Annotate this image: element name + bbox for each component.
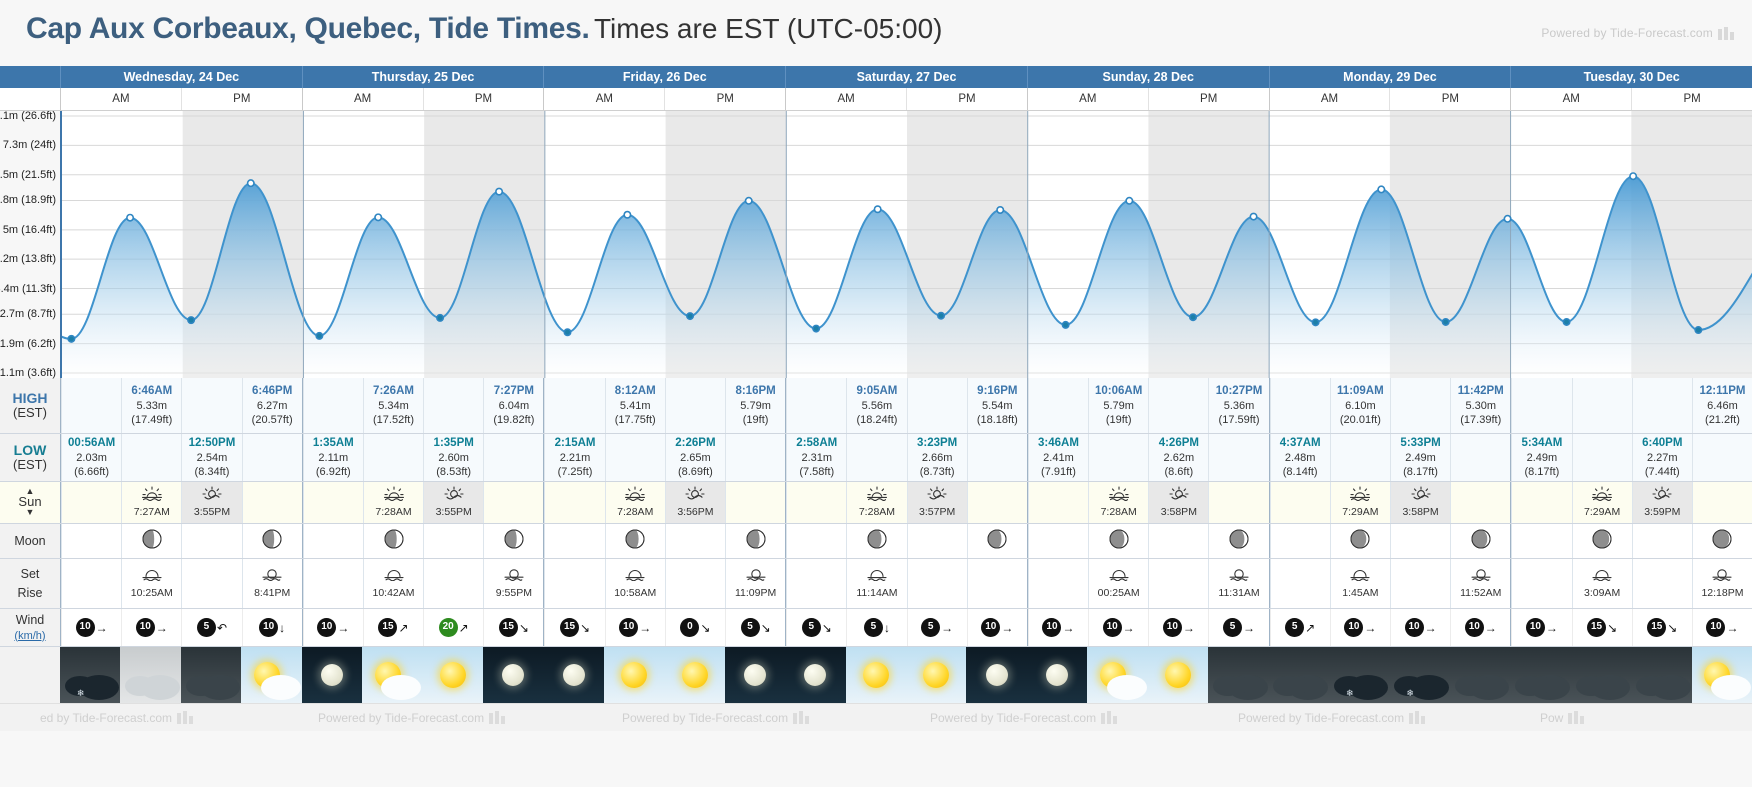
moon-icon (1046, 664, 1068, 686)
page-title: Cap Aux Corbeaux, Quebec, Tide Times. (26, 12, 590, 45)
low-cell-2-0: 2:15AM2.21m(7.25ft) (544, 434, 604, 481)
high-cell-4-3: 10:27PM5.36m(17.59ft) (1208, 378, 1268, 433)
sunrise-time-3: 7:28AM (859, 506, 895, 519)
tide-chart-page: Cap Aux Corbeaux, Quebec, Tide Times. Ti… (0, 0, 1752, 787)
wind-direction-icon: → (156, 622, 168, 634)
wind-label: Wind (km/h) (0, 609, 60, 646)
high-ft-5-3: (17.39ft) (1460, 413, 1501, 427)
weather-day-6 (1510, 647, 1752, 703)
wind-speed-badge: 10 (1526, 618, 1545, 637)
wind-speed-badge: 10 (317, 618, 336, 637)
wind-cell-5-0: 5↗ (1270, 609, 1330, 646)
low-time-3-0: 2:58AM (796, 436, 837, 451)
low-tide-label-text: LOW (14, 442, 47, 458)
high-tide-label-text: HIGH (13, 390, 48, 406)
ampm-header-row: AMPMAMPMAMPMAMPMAMPMAMPMAMPM (0, 88, 1752, 111)
y-tick-8: 1.9m (6.2ft) (0, 338, 56, 350)
moonset-time-1: 10:42AM (372, 587, 414, 600)
weather-day-3 (785, 647, 1027, 703)
moon-day-2 (543, 524, 785, 558)
moon-cell-5-2 (1390, 524, 1450, 558)
high-time-0-1: 6:46AM (131, 384, 172, 399)
low-time-2-2: 2:26PM (675, 436, 715, 451)
weather-strip-row: ❄❄❄ (0, 647, 1752, 703)
weather-icon-night-cloudy (1450, 647, 1510, 703)
sunset-icon (1409, 486, 1433, 505)
sun-icon (440, 662, 466, 688)
wind-cell-5-3: 10→ (1450, 609, 1510, 646)
sunset-time-3: 3:57PM (919, 506, 955, 519)
sun-day-3: 7:28AM3:57PM (785, 482, 1027, 523)
low-ft-4-2: (8.6ft) (1164, 465, 1193, 479)
wind-day-5: 5↗10→10→10→ (1269, 609, 1511, 646)
wind-speed-badge: 5 (864, 618, 883, 637)
tide-chart: 8.1m (26.6ft)7.3m (24ft)6.5m (21.5ft)5.8… (0, 111, 1752, 378)
weather-cell-3-1 (846, 647, 906, 703)
low-cell-3-2: 3:23PM2.66m(8.73ft) (907, 434, 967, 481)
tide-point-15 (997, 207, 1003, 213)
wind-cell-6-0: 10→ (1511, 609, 1571, 646)
wind-direction-icon: ↗ (459, 622, 469, 634)
wind-cell-2-2: 0↘ (665, 609, 725, 646)
moon-phase-icon (1712, 529, 1732, 553)
high-m-1-3: 6.04m (499, 399, 530, 413)
weather-cell-0-1 (120, 647, 180, 703)
sun-cell-2-0 (544, 482, 604, 523)
weather-icon-day-partly-cloudy (1087, 647, 1147, 703)
sun-arrows-icon: ▲ Sun ▼ (18, 489, 41, 515)
weather-cell-4-3 (1208, 647, 1268, 703)
sun-icon (1165, 662, 1191, 688)
high-time-5-1: 11:09AM (1337, 384, 1384, 399)
low-tide-tz: (EST) (13, 458, 47, 473)
footer-watermark-0: ed by Tide-Forecast.com (40, 711, 193, 725)
low-m-4-0: 2.41m (1043, 451, 1074, 465)
footer-watermark-text-3: Powered by Tide-Forecast.com (930, 711, 1096, 725)
high-cell-6-0 (1511, 378, 1571, 433)
high-m-4-3: 5.36m (1224, 399, 1255, 413)
moon-icon (804, 664, 826, 686)
low-cell-4-3 (1208, 434, 1268, 481)
sun-row: ▲ Sun ▼ 7:27AM3:55PM7:28AM3:55PM7:28AM3:… (0, 482, 1752, 524)
footer-watermark-text-0: ed by Tide-Forecast.com (40, 711, 172, 725)
low-cell-4-0: 3:46AM2.41m(7.91ft) (1028, 434, 1088, 481)
wind-direction-icon: ↗ (398, 622, 408, 634)
weather-icon-day-sunny (846, 647, 906, 703)
high-cell-5-3: 11:42PM5.30m(17.39ft) (1450, 378, 1510, 433)
ampm-day-3: AMPM (785, 88, 1027, 110)
low-time-5-0: 4:37AM (1280, 436, 1321, 451)
cloud-icon (1662, 676, 1688, 694)
moon-set-icon (1108, 567, 1130, 585)
moonrise-time-2: 11:09PM (735, 587, 776, 600)
wind-direction-icon: ↘ (580, 622, 590, 634)
cloud-icon (272, 676, 298, 694)
high-cell-2-1: 8:12AM5.41m(17.75ft) (605, 378, 665, 433)
moon-phase-icon (1109, 529, 1129, 553)
sunset-time-2: 3:56PM (677, 506, 713, 519)
sun-cell-1-3 (483, 482, 543, 523)
high-ft-0-1: (17.49ft) (131, 413, 172, 427)
moon-rise-icon (261, 567, 283, 585)
weather-cell-6-0 (1510, 647, 1570, 703)
tide-point-19 (1250, 213, 1256, 219)
wind-cell-2-3: 5↘ (725, 609, 785, 646)
wind-direction-icon: → (1425, 622, 1437, 634)
setrise-cell-3-1: 11:14AM (846, 559, 906, 608)
moon-phase-row: Moon (0, 524, 1752, 559)
moon-rise-icon (1228, 567, 1250, 585)
sun-cell-5-3 (1450, 482, 1510, 523)
moon-set-icon (1349, 567, 1371, 585)
sunset-time-1: 3:55PM (436, 506, 472, 519)
weather-cell-5-1: ❄ (1329, 647, 1389, 703)
low-tide-label: LOW (EST) (0, 434, 60, 481)
wind-direction-icon: → (1062, 622, 1074, 634)
wind-direction-icon: → (941, 622, 953, 634)
high-time-3-1: 9:05AM (856, 384, 897, 399)
wind-label-text: Wind (16, 612, 44, 629)
wind-speed-badge: 15 (1587, 618, 1606, 637)
setrise-cell-0-3: 8:41PM (242, 559, 302, 608)
high-ft-0-3: (20.57ft) (252, 413, 293, 427)
sun-cell-1-2: 3:55PM (423, 482, 483, 523)
watermark-bars-icon (1101, 711, 1117, 724)
high-cell-5-2 (1390, 378, 1450, 433)
high-cell-6-1 (1572, 378, 1632, 433)
am-header-5: AM (1270, 88, 1390, 110)
sunset-icon (1650, 486, 1674, 505)
setrise-cell-1-1: 10:42AM (363, 559, 423, 608)
high-cell-6-3: 12:11PM6.46m(21.2ft) (1692, 378, 1752, 433)
weather-day-2 (543, 647, 785, 703)
moon-cell-5-3 (1450, 524, 1510, 558)
page-header: Cap Aux Corbeaux, Quebec, Tide Times. Ti… (0, 0, 1752, 66)
moon-phase-icon (384, 529, 404, 553)
wind-cell-3-0: 5↘ (786, 609, 846, 646)
high-cell-4-0 (1028, 378, 1088, 433)
high-time-1-3: 7:27PM (494, 384, 534, 399)
high-cell-6-2 (1632, 378, 1692, 433)
moon-cell-3-0 (786, 524, 846, 558)
setrise-cell-5-1: 1:45AM (1330, 559, 1390, 608)
low-time-4-0: 3:46AM (1038, 436, 1079, 451)
sun-day-6: 7:29AM3:59PM (1510, 482, 1752, 523)
wind-speed-badge: 15 (1647, 618, 1666, 637)
moon-icon (321, 664, 343, 686)
moon-cell-5-0 (1270, 524, 1330, 558)
low-cell-4-2: 4:26PM2.62m(8.6ft) (1148, 434, 1208, 481)
high-cell-4-1: 10:06AM5.79m(19ft) (1088, 378, 1148, 433)
moon-day-0 (60, 524, 302, 558)
watermark-bars-icon (489, 711, 505, 724)
low-cell-3-1 (846, 434, 906, 481)
cloud-icon (393, 676, 419, 694)
weather-icon-night-cloudy (1571, 647, 1631, 703)
wind-cell-0-0: 10→ (61, 609, 121, 646)
setrise-cell-6-0 (1511, 559, 1571, 608)
low-time-6-2: 6:40PM (1642, 436, 1682, 451)
sun-cell-6-2: 3:59PM (1632, 482, 1692, 523)
moonrise-time-4: 11:31AM (1218, 587, 1259, 600)
pm-header-2: PM (664, 88, 785, 110)
low-ft-1-0: (6.92ft) (316, 465, 351, 479)
tide-point-0 (68, 336, 74, 342)
wind-speed-badge: 10 (1344, 618, 1363, 637)
wind-cell-3-3: 10→ (967, 609, 1027, 646)
wind-direction-icon: ↘ (700, 622, 710, 634)
low-m-0-0: 2.03m (76, 451, 107, 465)
weather-icon-night-cloudy (181, 647, 241, 703)
high-ft-6-3: (21.2ft) (1705, 413, 1740, 427)
low-time-3-2: 3:23PM (917, 436, 957, 451)
weather-icon-day-partly-cloudy (241, 647, 301, 703)
weather-icon-day-sunny (1148, 647, 1208, 703)
wind-cell-4-1: 10→ (1088, 609, 1148, 646)
wind-cell-3-1: 5↓ (846, 609, 906, 646)
tide-point-17 (1126, 198, 1132, 204)
tide-point-16 (1062, 322, 1068, 328)
low-cell-4-1 (1088, 434, 1148, 481)
tide-point-4 (316, 333, 322, 339)
weather-day-4 (1027, 647, 1269, 703)
sunrise-time-4: 7:28AM (1101, 506, 1137, 519)
wind-cell-4-0: 10→ (1028, 609, 1088, 646)
snowflake-icon: ❄ (1346, 688, 1354, 699)
sun-icon (682, 662, 708, 688)
weather-icon-night-moon (543, 647, 603, 703)
high-cell-2-2 (665, 378, 725, 433)
setrise-cell-1-0 (303, 559, 363, 608)
wind-day-2: 15↘10→0↘5↘ (543, 609, 785, 646)
footer-watermark-text-4: Powered by Tide-Forecast.com (1238, 711, 1404, 725)
moon-day-6 (1510, 524, 1752, 558)
moon-cell-6-3 (1692, 524, 1752, 558)
setrise-cell-2-0 (544, 559, 604, 608)
high-day-2: 8:12AM5.41m(17.75ft)8:16PM5.79m(19ft) (543, 378, 785, 433)
setrise-cell-0-1: 10:25AM (121, 559, 181, 608)
cloud-icon (1239, 676, 1265, 694)
tide-point-25 (1630, 173, 1636, 179)
low-cell-1-0: 1:35AM2.11m(6.92ft) (303, 434, 363, 481)
am-header-1: AM (303, 88, 423, 110)
sun-cell-0-3 (242, 482, 302, 523)
moon-phase-icon (987, 529, 1007, 553)
sun-icon (621, 662, 647, 688)
high-time-6-3: 12:11PM (1699, 384, 1745, 399)
low-day-1: 1:35AM2.11m(6.92ft)1:35PM2.60m(8.53ft) (302, 434, 544, 481)
sunrise-time-2: 7:28AM (617, 506, 653, 519)
sun-cell-3-0 (786, 482, 846, 523)
wind-speed-badge: 10 (1163, 618, 1182, 637)
moonset-time-5: 1:45AM (1342, 587, 1378, 600)
day-header-1: Thursday, 25 Dec (302, 66, 544, 88)
wind-speed-badge: 10 (259, 618, 278, 637)
wind-direction-icon: → (1546, 622, 1558, 634)
moon-phase-icon (867, 529, 887, 553)
setrise-day-2: 10:58AM11:09PM (543, 559, 785, 608)
weather-day-1 (302, 647, 544, 703)
sun-cell-6-1: 7:29AM (1572, 482, 1632, 523)
moonrise-time-5: 11:52AM (1460, 587, 1501, 600)
wind-speed-badge: 10 (981, 618, 1000, 637)
weather-icon-day-partly-cloudy (1692, 647, 1752, 703)
moon-day-1 (302, 524, 544, 558)
tide-point-6 (437, 315, 443, 321)
high-m-3-1: 5.56m (862, 399, 893, 413)
moon-label: Moon (0, 524, 60, 558)
moon-rise-icon (503, 567, 525, 585)
high-m-5-1: 6.10m (1345, 399, 1376, 413)
footer-watermark-4: Powered by Tide-Forecast.com (1238, 711, 1425, 725)
moon-phase-icon (1350, 529, 1370, 553)
wind-direction-icon: ↓ (279, 622, 285, 634)
sun-cell-6-3 (1692, 482, 1752, 523)
low-ft-4-0: (7.91ft) (1041, 465, 1076, 479)
moon-cell-0-1 (121, 524, 181, 558)
setrise-cell-1-3: 9:55PM (483, 559, 543, 608)
low-m-1-2: 2.60m (438, 451, 469, 465)
weather-cell-3-3 (966, 647, 1026, 703)
tide-point-14 (938, 313, 944, 319)
wind-cell-3-2: 5→ (907, 609, 967, 646)
moon-cell-4-2 (1148, 524, 1208, 558)
wind-cell-2-0: 15↘ (544, 609, 604, 646)
wind-speed-badge: 20 (439, 618, 458, 637)
low-time-1-0: 1:35AM (313, 436, 354, 451)
sun-day-0: 7:27AM3:55PM (60, 482, 302, 523)
moon-rise-icon (1711, 567, 1733, 585)
wind-direction-icon: → (1364, 622, 1376, 634)
high-cell-0-3: 6:46PM6.27m(20.57ft) (242, 378, 302, 433)
moon-label-text: Moon (14, 534, 45, 548)
weather-cell-3-0 (785, 647, 845, 703)
low-cell-2-1 (605, 434, 665, 481)
day-header-4: Sunday, 28 Dec (1027, 66, 1269, 88)
wind-cell-0-1: 10→ (121, 609, 181, 646)
low-m-3-2: 2.66m (922, 451, 953, 465)
high-m-0-1: 5.33m (136, 399, 167, 413)
wind-unit-link[interactable]: (km/h) (14, 629, 45, 644)
am-header-4: AM (1028, 88, 1148, 110)
low-cell-5-3 (1450, 434, 1510, 481)
moon-phase-icon (504, 529, 524, 553)
sunset-icon (200, 486, 224, 505)
low-time-5-2: 5:33PM (1400, 436, 1440, 451)
sun-down-arrow-icon: ▼ (26, 510, 35, 516)
setrise-label: Set Rise (0, 559, 60, 608)
high-time-4-1: 10:06AM (1095, 384, 1142, 399)
sunset-time-0: 3:55PM (194, 506, 230, 519)
sun-cell-4-0 (1028, 482, 1088, 523)
setrise-day-5: 1:45AM11:52AM (1269, 559, 1511, 608)
setrise-cell-0-0 (61, 559, 121, 608)
day-header-3: Saturday, 27 Dec (785, 66, 1027, 88)
tide-point-2 (188, 317, 194, 323)
weather-icon-day-sunny (906, 647, 966, 703)
high-ft-4-3: (17.59ft) (1219, 413, 1260, 427)
moon-set-icon (866, 567, 888, 585)
low-time-1-2: 1:35PM (434, 436, 474, 451)
sun-cell-2-2: 3:56PM (665, 482, 725, 523)
wind-direction-icon: → (1726, 622, 1738, 634)
moon-set-icon (383, 567, 405, 585)
high-day-3: 9:05AM5.56m(18.24ft)9:16PM5.54m(18.18ft) (785, 378, 1027, 433)
high-tide-label: HIGH (EST) (0, 378, 60, 433)
low-m-5-2: 2.49m (1405, 451, 1436, 465)
sunrise-time-6: 7:29AM (1584, 506, 1620, 519)
wind-cell-1-2: 20↗ (423, 609, 483, 646)
wind-day-0: 10→10→5↶10↓ (60, 609, 302, 646)
low-ft-6-2: (7.44ft) (1645, 465, 1680, 479)
moonrise-time-0: 8:41PM (254, 587, 290, 600)
sunset-time-6: 3:59PM (1644, 506, 1680, 519)
sun-day-4: 7:28AM3:58PM (1027, 482, 1269, 523)
weather-cell-2-3 (725, 647, 785, 703)
pm-header-3: PM (906, 88, 1027, 110)
moon-phase-icon (142, 529, 162, 553)
tide-point-7 (496, 188, 502, 194)
moon-cell-6-1 (1572, 524, 1632, 558)
weather-icon-night-moon (785, 647, 845, 703)
low-cell-3-3 (967, 434, 1027, 481)
header-watermark-text: Powered by Tide-Forecast.com (1541, 26, 1713, 40)
sun-cell-5-0 (1270, 482, 1330, 523)
high-cell-4-2 (1148, 378, 1208, 433)
sunrise-icon (140, 486, 164, 505)
moon-day-3 (785, 524, 1027, 558)
low-cell-5-0: 4:37AM2.48m(8.14ft) (1270, 434, 1330, 481)
weather-icon-night-cloudy (1510, 647, 1570, 703)
low-ft-6-0: (8.17ft) (1524, 465, 1559, 479)
moon-cell-3-2 (907, 524, 967, 558)
sun-cell-3-1: 7:28AM (846, 482, 906, 523)
high-time-3-3: 9:16PM (977, 384, 1017, 399)
moon-cell-3-3 (967, 524, 1027, 558)
wind-speed-badge: 10 (619, 618, 638, 637)
moon-set-icon (624, 567, 646, 585)
y-tick-5: 4.2m (13.8ft) (0, 253, 56, 265)
moon-rise-icon (745, 567, 767, 585)
moonset-time-6: 3:09AM (1584, 587, 1620, 600)
sunset-time-4: 3:58PM (1161, 506, 1197, 519)
low-ft-3-2: (8.73ft) (920, 465, 955, 479)
high-m-5-3: 5.30m (1465, 399, 1496, 413)
moon-day-5 (1269, 524, 1511, 558)
moonset-time-0: 10:25AM (131, 587, 173, 600)
weather-cell-6-2 (1631, 647, 1691, 703)
low-m-5-0: 2.48m (1285, 451, 1316, 465)
high-day-0: 6:46AM5.33m(17.49ft)6:46PM6.27m(20.57ft) (60, 378, 302, 433)
high-cell-0-2 (181, 378, 241, 433)
setrise-cell-4-2 (1148, 559, 1208, 608)
tide-point-1 (127, 214, 133, 220)
footer-watermark-1: Powered by Tide-Forecast.com (318, 711, 505, 725)
y-tick-6: 3.4m (11.3ft) (0, 283, 56, 295)
y-tick-4: 5m (16.4ft) (3, 224, 56, 236)
low-cell-1-2: 1:35PM2.60m(8.53ft) (423, 434, 483, 481)
moon-cell-6-2 (1632, 524, 1692, 558)
wind-speed-badge: 5 (741, 618, 760, 637)
high-m-0-3: 6.27m (257, 399, 288, 413)
y-tick-0: 8.1m (26.6ft) (0, 110, 56, 122)
weather-icon-day-partly-cloudy (362, 647, 422, 703)
wind-speed-badge: 10 (1706, 618, 1725, 637)
weather-cell-6-3 (1692, 647, 1752, 703)
wind-direction-icon: → (1123, 622, 1135, 634)
pm-header-1: PM (423, 88, 544, 110)
setrise-cell-5-2 (1390, 559, 1450, 608)
